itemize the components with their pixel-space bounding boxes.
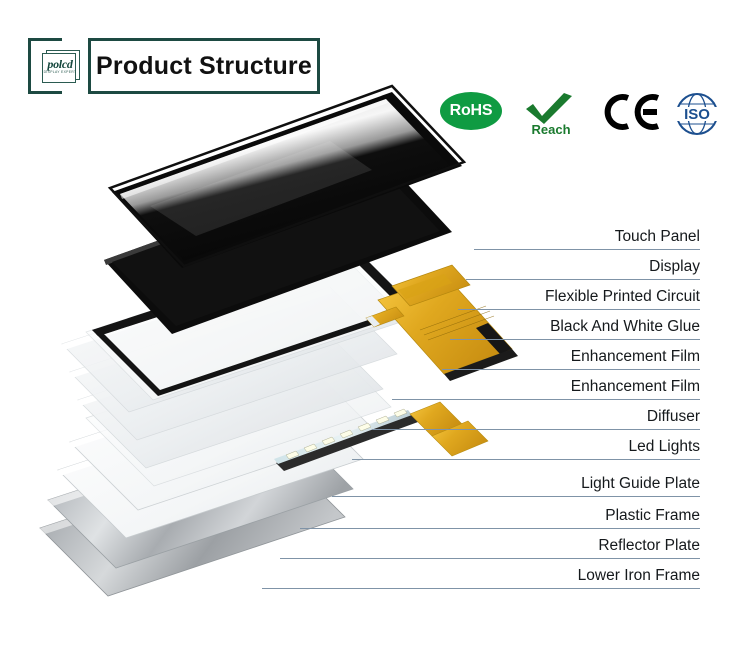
product-structure-diagram: polcd DISPLAY EXPERT Product Structure R… xyxy=(0,0,750,656)
callout-leader-line xyxy=(262,588,700,589)
callout-label: Led Lights xyxy=(628,438,700,456)
callout-lower-iron-frame: Lower Iron Frame xyxy=(262,551,700,589)
callout-led-lights: Led Lights xyxy=(352,422,700,460)
callout-label: Lower Iron Frame xyxy=(578,567,700,585)
callout-labels: Touch Panel Display Flexible Printed Cir… xyxy=(0,0,750,656)
